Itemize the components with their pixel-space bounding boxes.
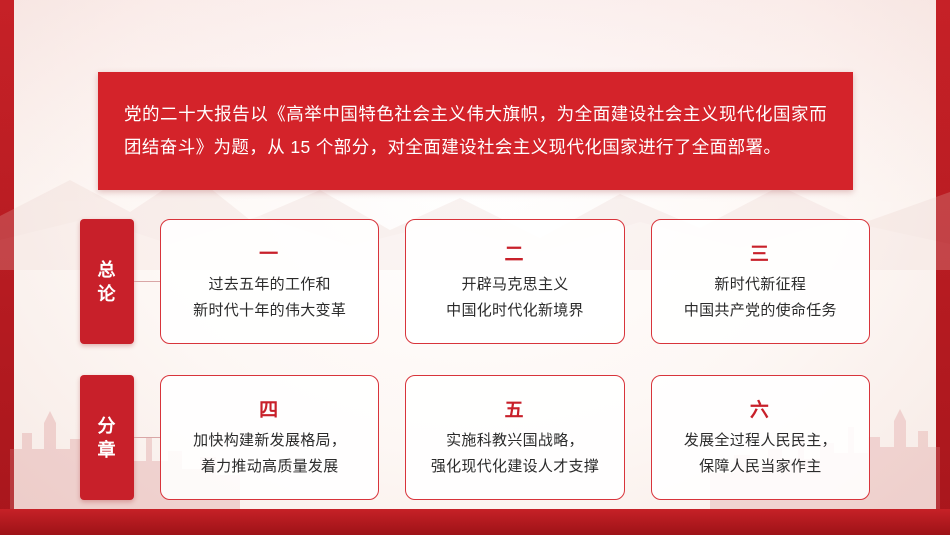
card-text: 新时代新征程 中国共产党的使命任务 — [684, 272, 837, 324]
bottom-band-decoration — [0, 509, 950, 535]
card-text: 发展全过程人民民主， 保障人民当家作主 — [684, 428, 837, 480]
connector-overview — [134, 219, 160, 344]
card-text-line: 保障人民当家作主 — [684, 454, 837, 480]
card-number: 五 — [504, 395, 525, 422]
card-item[interactable]: 二 开辟马克思主义 中国化时代化新境界 — [405, 219, 624, 344]
card-item[interactable]: 三 新时代新征程 中国共产党的使命任务 — [651, 219, 870, 344]
card-text: 开辟马克思主义 中国化时代化新境界 — [446, 272, 584, 324]
headline-text: 党的二十大报告以《高举中国特色社会主义伟大旗帜，为全面建设社会主义现代化国家而团… — [124, 98, 827, 164]
card-text-line: 新时代新征程 — [684, 272, 837, 298]
headline-banner: 党的二十大报告以《高举中国特色社会主义伟大旗帜，为全面建设社会主义现代化国家而团… — [98, 72, 853, 190]
connector-chapters — [134, 375, 160, 500]
card-item[interactable]: 五 实施科教兴国战略， 强化现代化建设人才支撑 — [405, 375, 624, 500]
card-item[interactable]: 四 加快构建新发展格局， 着力推动高质量发展 — [160, 375, 379, 500]
card-number: 二 — [504, 239, 525, 266]
card-text: 实施科教兴国战略， 强化现代化建设人才支撑 — [431, 428, 599, 480]
card-group-overview: 一 过去五年的工作和 新时代十年的伟大变革 二 开辟马克思主义 中国化时代化新境… — [160, 219, 870, 344]
card-text: 加快构建新发展格局， 着力推动高质量发展 — [193, 428, 346, 480]
card-group-chapters: 四 加快构建新发展格局， 着力推动高质量发展 五 实施科教兴国战略， 强化现代化… — [160, 375, 870, 500]
section-label-chapters: 分 章 — [80, 375, 134, 500]
card-number: 三 — [750, 239, 771, 266]
section-label-char-2: 章 — [98, 438, 117, 462]
section-row-chapters: 分 章 四 加快构建新发展格局， 着力推动高质量发展 五 实施科教兴国战略， 强… — [80, 375, 870, 500]
section-label-char-1: 总 — [98, 258, 117, 282]
card-text-line: 过去五年的工作和 — [193, 272, 346, 298]
slide-root: 党的二十大报告以《高举中国特色社会主义伟大旗帜，为全面建设社会主义现代化国家而团… — [0, 0, 950, 535]
card-number: 四 — [259, 395, 280, 422]
card-text-line: 新时代十年的伟大变革 — [193, 298, 346, 324]
card-text-line: 中国共产党的使命任务 — [684, 298, 837, 324]
card-item[interactable]: 六 发展全过程人民民主， 保障人民当家作主 — [651, 375, 870, 500]
card-text-line: 发展全过程人民民主， — [684, 428, 837, 454]
card-number: 六 — [750, 395, 771, 422]
section-row-overview: 总 论 一 过去五年的工作和 新时代十年的伟大变革 二 开辟马克思主义 中国化时… — [80, 219, 870, 344]
card-text-line: 实施科教兴国战略， — [431, 428, 599, 454]
card-text-line: 加快构建新发展格局， — [193, 428, 346, 454]
card-text-line: 开辟马克思主义 — [446, 272, 584, 298]
card-number: 一 — [259, 239, 280, 266]
card-text-line: 着力推动高质量发展 — [193, 454, 346, 480]
section-label-char-2: 论 — [98, 282, 117, 306]
card-text-line: 强化现代化建设人才支撑 — [431, 454, 599, 480]
card-text: 过去五年的工作和 新时代十年的伟大变革 — [193, 272, 346, 324]
section-label-char-1: 分 — [98, 414, 117, 438]
card-text-line: 中国化时代化新境界 — [446, 298, 584, 324]
section-label-overview: 总 论 — [80, 219, 134, 344]
card-item[interactable]: 一 过去五年的工作和 新时代十年的伟大变革 — [160, 219, 379, 344]
